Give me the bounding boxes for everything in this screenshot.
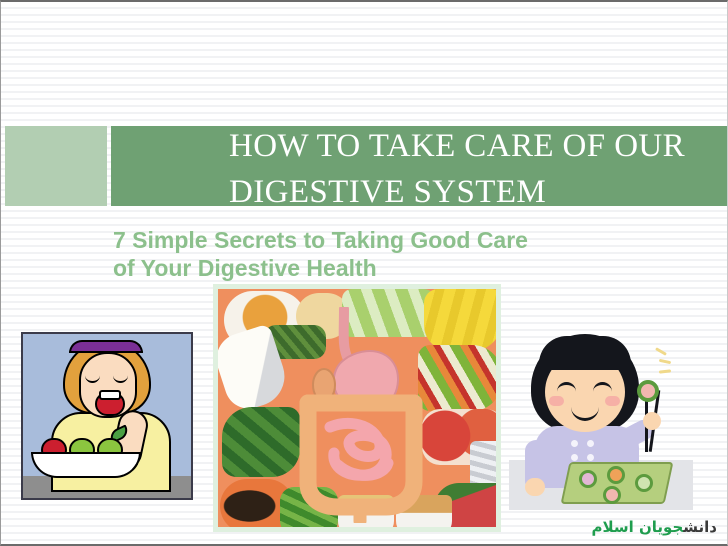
image-digestive-system-and-foods [213, 284, 501, 532]
fruit-bowl-shape [31, 452, 141, 478]
watermark-logo: دانشجویان اسلام [591, 518, 717, 536]
sushi-roll-held [637, 380, 659, 402]
presentation-slide: HOW TO TAKE CARE OF OUR DIGESTIVE SYSTEM… [0, 0, 728, 546]
logo-text-green: جویان اسلام [591, 518, 683, 536]
slide-title: HOW TO TAKE CARE OF OUR DIGESTIVE SYSTEM [229, 123, 728, 215]
button-3 [571, 454, 578, 461]
title-bar: HOW TO TAKE CARE OF OUR DIGESTIVE SYSTEM [111, 126, 728, 206]
cheek-left [549, 396, 564, 406]
button-1 [571, 440, 578, 447]
logo-text-dark: دانش [683, 518, 717, 536]
button-2 [587, 440, 594, 447]
eye-right [593, 382, 612, 395]
hand-right [643, 412, 661, 430]
teeth-shape [99, 390, 121, 400]
hand-left [525, 478, 545, 496]
title-accent-block [5, 126, 107, 206]
sushi-roll-3 [635, 474, 653, 492]
eye-left [557, 382, 576, 395]
image-girl-eating-sushi [509, 328, 693, 510]
bangs-shape [539, 336, 631, 370]
headband-shape [69, 340, 143, 353]
button-4 [587, 454, 594, 461]
sushi-roll-1 [579, 470, 597, 488]
image-woman-eating-apple [21, 332, 193, 500]
cheek-right [605, 396, 620, 406]
title-band: HOW TO TAKE CARE OF OUR DIGESTIVE SYSTEM [1, 126, 728, 206]
sushi-roll-2 [607, 466, 625, 484]
digestive-system-diagram [282, 307, 442, 523]
sushi-roll-4 [603, 486, 621, 504]
sparkle-3 [659, 369, 671, 373]
sparkle-1 [655, 347, 667, 356]
sparkle-2 [659, 359, 671, 364]
slide-subtitle: 7 Simple Secrets to Taking Good Care of … [113, 226, 713, 282]
